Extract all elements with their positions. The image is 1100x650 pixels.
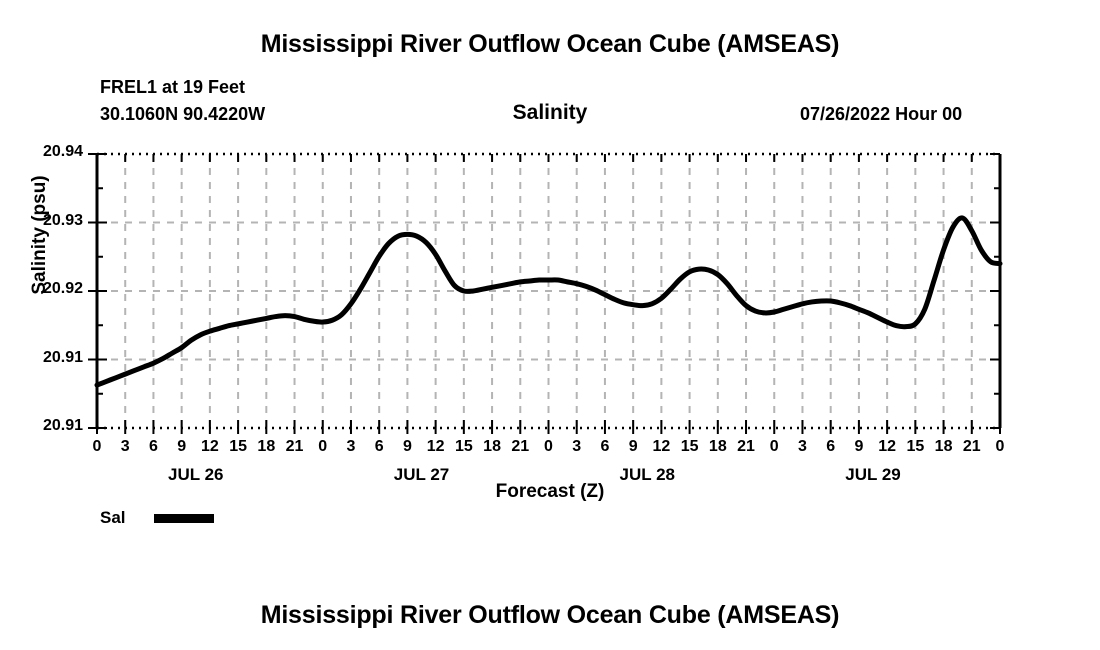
x-axis-tick-label: 21 (286, 438, 304, 456)
x-axis-tick-label: 6 (826, 438, 835, 456)
x-axis-tick-label: 21 (511, 438, 529, 456)
x-axis-tick-label: 12 (201, 438, 219, 456)
x-axis-tick-label: 0 (996, 438, 1005, 456)
x-axis-tick-label: 18 (935, 438, 953, 456)
x-axis-tick-label: 9 (403, 438, 412, 456)
y-axis-tick-label: 20.91 (0, 349, 83, 367)
x-axis-tick-label: 3 (798, 438, 807, 456)
x-axis-tick-label: 6 (600, 438, 609, 456)
x-axis-tick-label: 3 (347, 438, 356, 456)
y-axis-tick-label: 20.93 (0, 212, 83, 230)
x-axis-tick-label: 18 (257, 438, 275, 456)
x-axis-tick-label: 18 (483, 438, 501, 456)
chart-legend: Sal (100, 508, 214, 528)
y-axis-tick-label: 20.94 (0, 143, 83, 161)
x-axis-tick-label: 6 (375, 438, 384, 456)
x-axis-tick-label: 0 (318, 438, 327, 456)
x-axis-tick-label: 15 (229, 438, 247, 456)
page-title-bottom: Mississippi River Outflow Ocean Cube (AM… (0, 601, 1100, 630)
plot-area: Salinity (psu) 20.9420.9320.9220.9120.91… (0, 0, 1100, 650)
x-axis-tick-label: 0 (93, 438, 102, 456)
x-axis-tick-label: 12 (878, 438, 896, 456)
x-axis-tick-label: 9 (629, 438, 638, 456)
x-axis-tick-label: 12 (427, 438, 445, 456)
x-axis-tick-label: 0 (770, 438, 779, 456)
chart-canvas (0, 0, 1100, 650)
chart-page: Mississippi River Outflow Ocean Cube (AM… (0, 0, 1100, 650)
x-axis-tick-label: 12 (652, 438, 670, 456)
y-axis-tick-label: 20.92 (0, 280, 83, 298)
x-axis-tick-label: 15 (455, 438, 473, 456)
x-axis-tick-label: 0 (544, 438, 553, 456)
legend-swatch-sal (154, 514, 214, 523)
x-axis-tick-label: 3 (121, 438, 130, 456)
legend-label-sal: Sal (100, 508, 126, 528)
x-axis-tick-label: 15 (681, 438, 699, 456)
x-axis-tick-label: 21 (963, 438, 981, 456)
x-axis-tick-label: 21 (737, 438, 755, 456)
x-axis-tick-label: 18 (709, 438, 727, 456)
x-axis-tick-label: 3 (572, 438, 581, 456)
x-axis-tick-label: 9 (177, 438, 186, 456)
x-axis-title: Forecast (Z) (0, 481, 1100, 503)
x-axis-tick-label: 15 (906, 438, 924, 456)
x-axis-tick-label: 9 (854, 438, 863, 456)
x-axis-tick-label: 6 (149, 438, 158, 456)
y-axis-tick-label: 20.91 (0, 417, 83, 435)
